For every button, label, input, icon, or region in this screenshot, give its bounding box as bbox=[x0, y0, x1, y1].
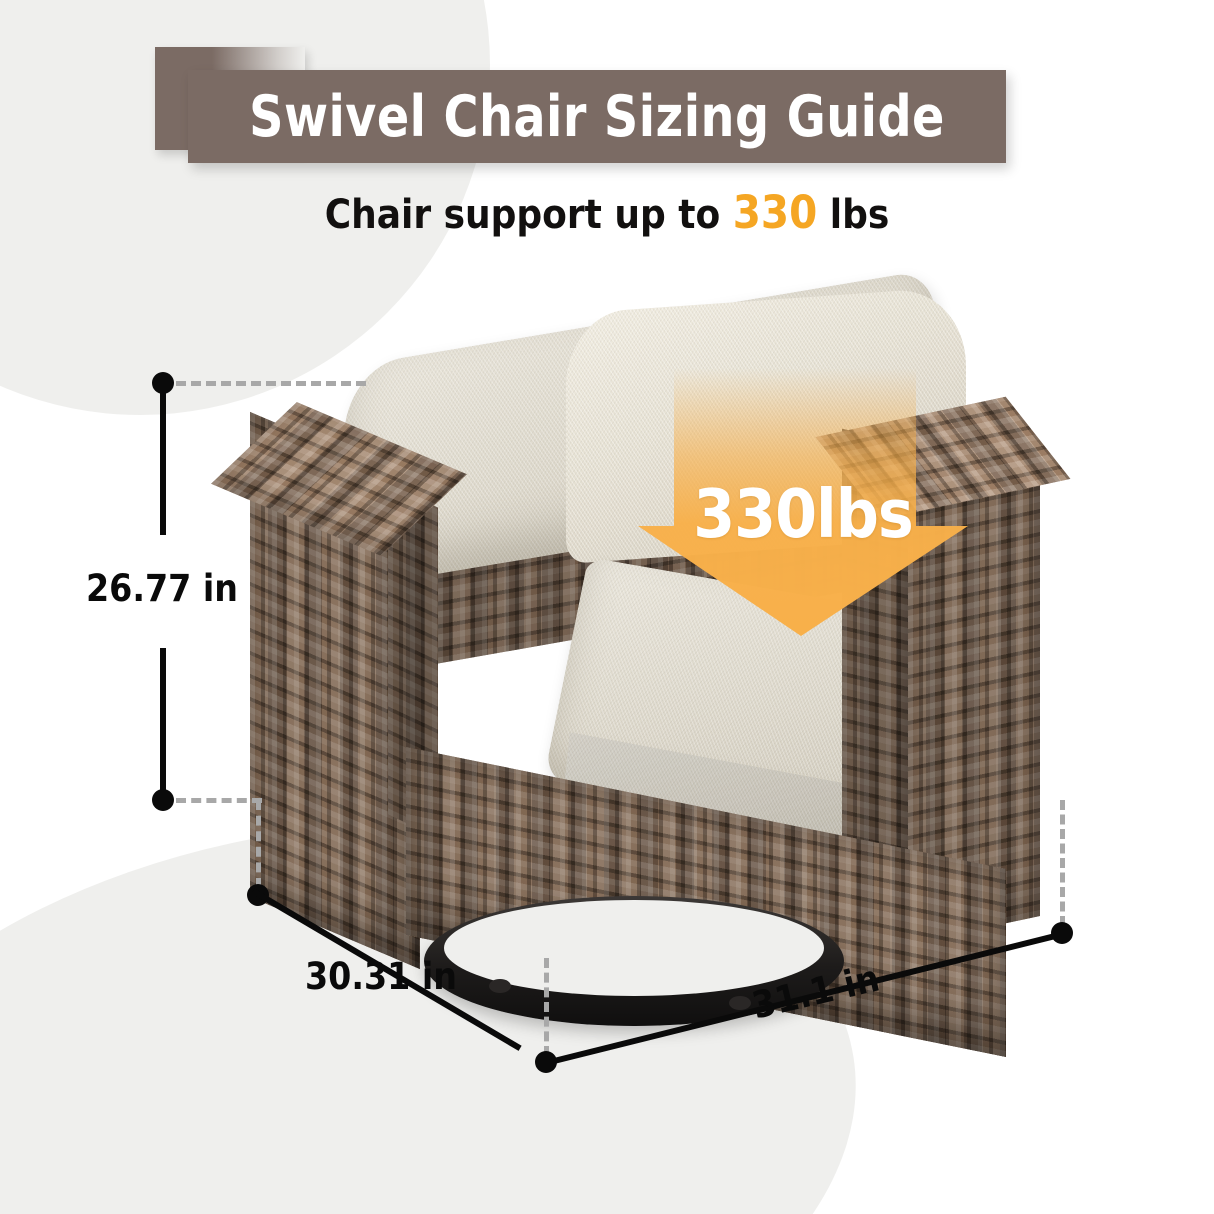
swivel-foot-left bbox=[489, 979, 511, 993]
height-bottom-leader-dash bbox=[176, 798, 262, 803]
sizing-guide-infographic: Swivel Chair Sizing Guide Chair support … bbox=[0, 0, 1214, 1214]
subtitle: Chair support up to 330 lbs bbox=[0, 186, 1214, 239]
height-line-lower bbox=[160, 648, 166, 800]
page-title: Swivel Chair Sizing Guide bbox=[249, 84, 945, 150]
depth-leader-dash bbox=[256, 800, 261, 888]
dimension-label-height: 26.77 in bbox=[86, 567, 238, 610]
height-line-upper bbox=[160, 383, 166, 535]
height-top-leader-dash bbox=[176, 381, 366, 386]
subtitle-suffix: lbs bbox=[817, 192, 889, 238]
weight-capacity-label: 330lbs bbox=[638, 475, 968, 553]
weight-capacity-badge: 330lbs bbox=[638, 368, 968, 636]
subtitle-prefix: Chair support up to bbox=[325, 192, 733, 238]
subtitle-weight-value: 330 bbox=[733, 186, 818, 239]
title-banner: Swivel Chair Sizing Guide bbox=[188, 70, 1006, 163]
width-marker-right-dot bbox=[1051, 922, 1073, 944]
width-left-leader-dash bbox=[544, 958, 549, 1056]
swivel-foot-right bbox=[729, 996, 751, 1010]
dimension-label-depth: 30.31 in bbox=[305, 955, 457, 998]
width-right-leader-dash bbox=[1060, 800, 1065, 926]
